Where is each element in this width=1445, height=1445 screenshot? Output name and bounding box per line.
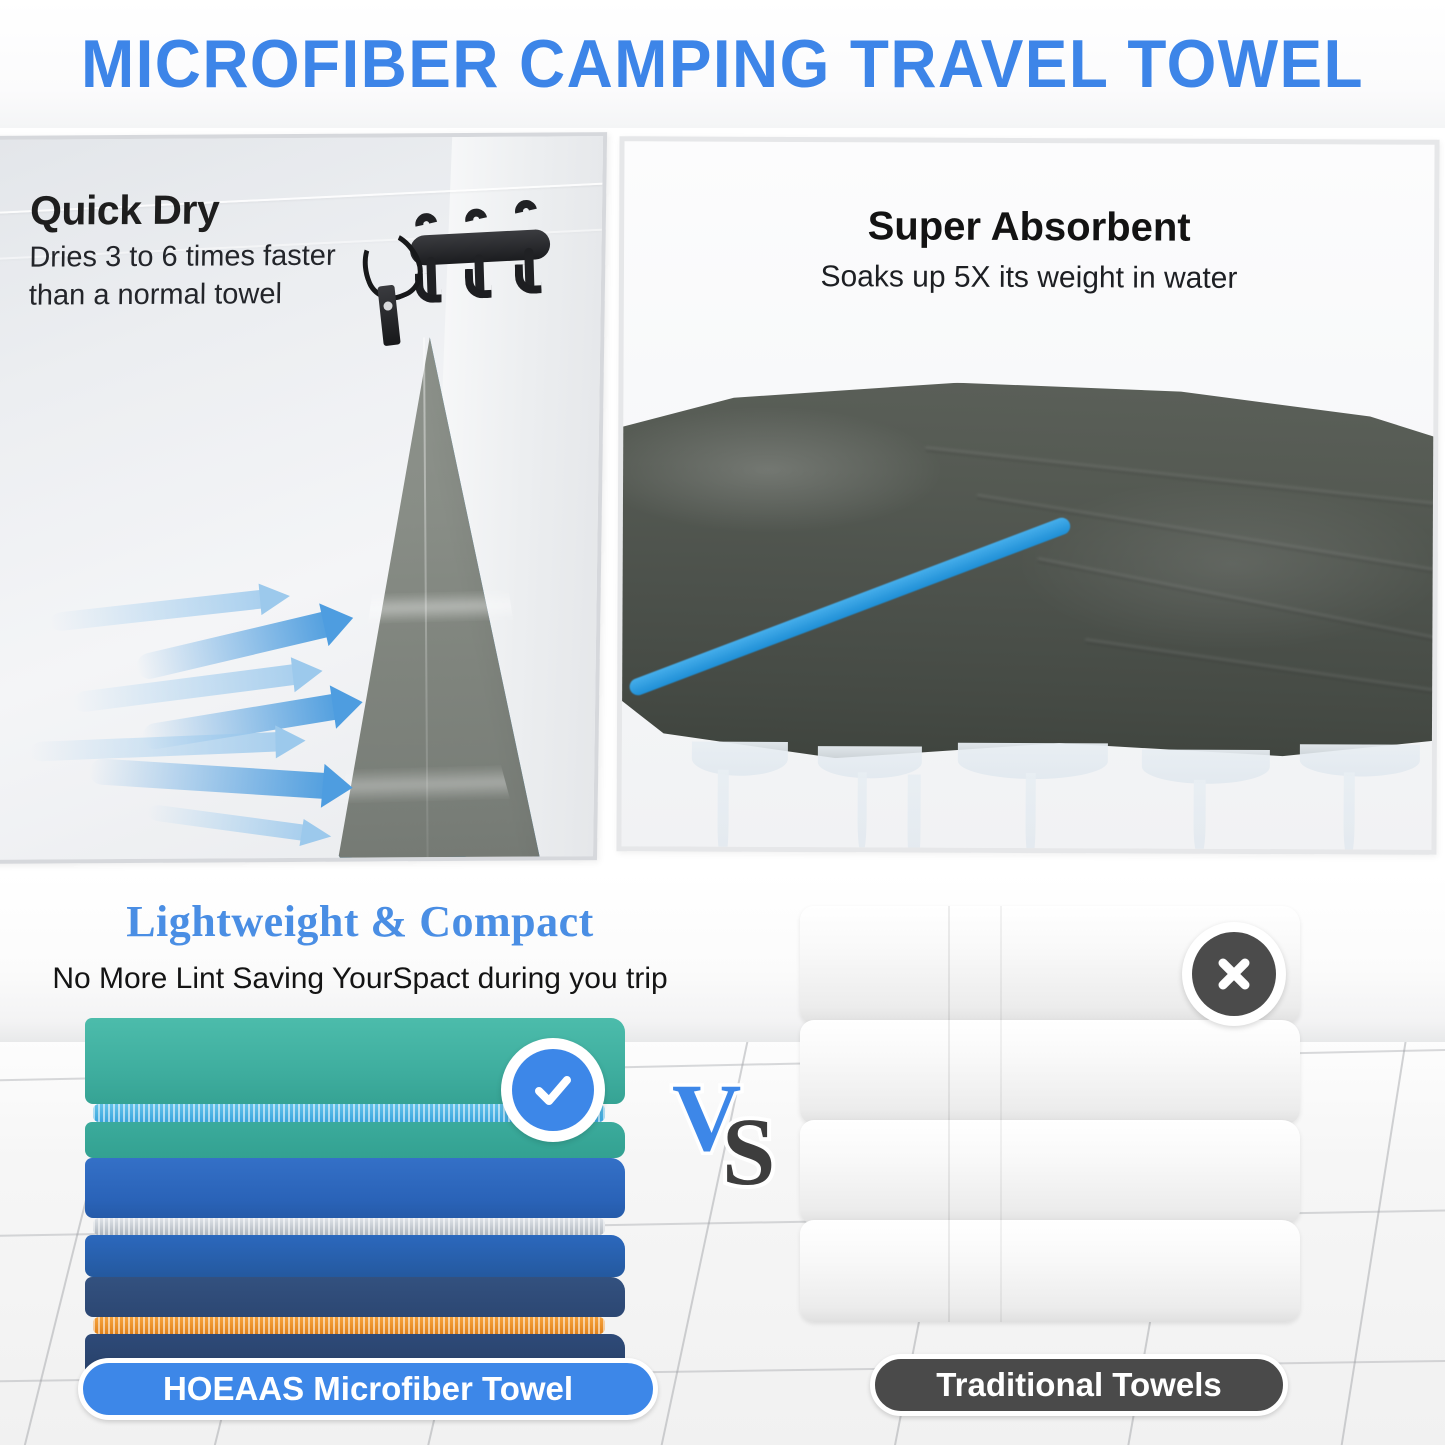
microfiber-towel-label: HOEAAS Microfiber Towel: [78, 1358, 658, 1420]
navy-towel-top: [85, 1277, 625, 1317]
quick-dry-subtitle: Dries 3 to 6 times faster than a normal …: [29, 238, 336, 315]
royal-blue-towel-trim: [93, 1218, 605, 1235]
royal-blue-towel-top: [85, 1158, 625, 1218]
water-blob: [1142, 749, 1270, 784]
quick-dry-subtitle-line2: than a normal towel: [29, 275, 336, 315]
floor-plank-line: [1326, 1040, 1416, 1445]
water-drip: [857, 772, 866, 852]
versus-s-letter: S: [722, 1096, 775, 1207]
super-absorbent-title: Super Absorbent: [624, 203, 1434, 252]
microfiber-towel-stack: [85, 1018, 645, 1343]
lightweight-title: Lightweight & Compact: [0, 896, 720, 947]
quick-dry-title: Quick Dry: [30, 186, 220, 234]
white-towel: [800, 1120, 1300, 1224]
traditional-towel-stack: [800, 906, 1320, 1336]
water-drip: [717, 770, 728, 855]
hook-j: [515, 263, 542, 294]
royal-blue-towel-body: [85, 1235, 625, 1277]
airflow-arrow: [146, 804, 307, 841]
water-drip: [907, 774, 920, 854]
check-badge: [501, 1038, 605, 1142]
top-panels-row: Quick Dry Dries 3 to 6 times faster than…: [0, 128, 1445, 870]
page-title: MICROFIBER CAMPING TRAVEL TOWEL: [81, 25, 1364, 103]
check-icon: [512, 1049, 594, 1131]
white-towel: [800, 1220, 1300, 1322]
airflow-arrow: [29, 732, 279, 762]
wet-towel-image: [616, 381, 1439, 785]
header-banner: MICROFIBER CAMPING TRAVEL TOWEL: [0, 0, 1445, 128]
white-towel: [800, 1020, 1300, 1124]
comparison-section: Lightweight & Compact No More Lint Savin…: [0, 872, 1445, 1445]
water-blob: [818, 746, 922, 778]
water-blob: [1300, 744, 1420, 777]
water-blob: [692, 742, 788, 776]
towel-fold-line: [1036, 557, 1439, 648]
hook-curl: [511, 196, 541, 226]
airflow-arrow: [49, 590, 265, 632]
versus-badge: V S: [672, 1062, 802, 1192]
quick-dry-subtitle-line1: Dries 3 to 6 times faster: [29, 238, 336, 278]
towel-fold-line: [1084, 638, 1440, 699]
airflow-arrow: [88, 758, 327, 799]
water-drip: [1193, 780, 1205, 855]
water-drip: [1025, 773, 1035, 855]
super-absorbent-subtitle: Soaks up 5X its weight in water: [624, 259, 1434, 297]
airflow-arrows-icon: [36, 593, 370, 855]
lightweight-subtitle: No More Lint Saving YourSpact during you…: [0, 962, 720, 996]
super-absorbent-panel: Super Absorbent Soaks up 5X its weight i…: [616, 136, 1439, 855]
hook-j: [465, 268, 492, 299]
navy-towel-trim: [93, 1317, 605, 1334]
hook-curl: [461, 204, 491, 234]
x-badge: [1182, 922, 1286, 1026]
water-drip: [1343, 772, 1354, 854]
traditional-towels-label: Traditional Towels: [870, 1354, 1288, 1416]
quick-dry-panel: Quick Dry Dries 3 to 6 times faster than…: [0, 132, 607, 864]
close-icon: [1192, 932, 1276, 1016]
towel-trim: [627, 515, 1073, 697]
